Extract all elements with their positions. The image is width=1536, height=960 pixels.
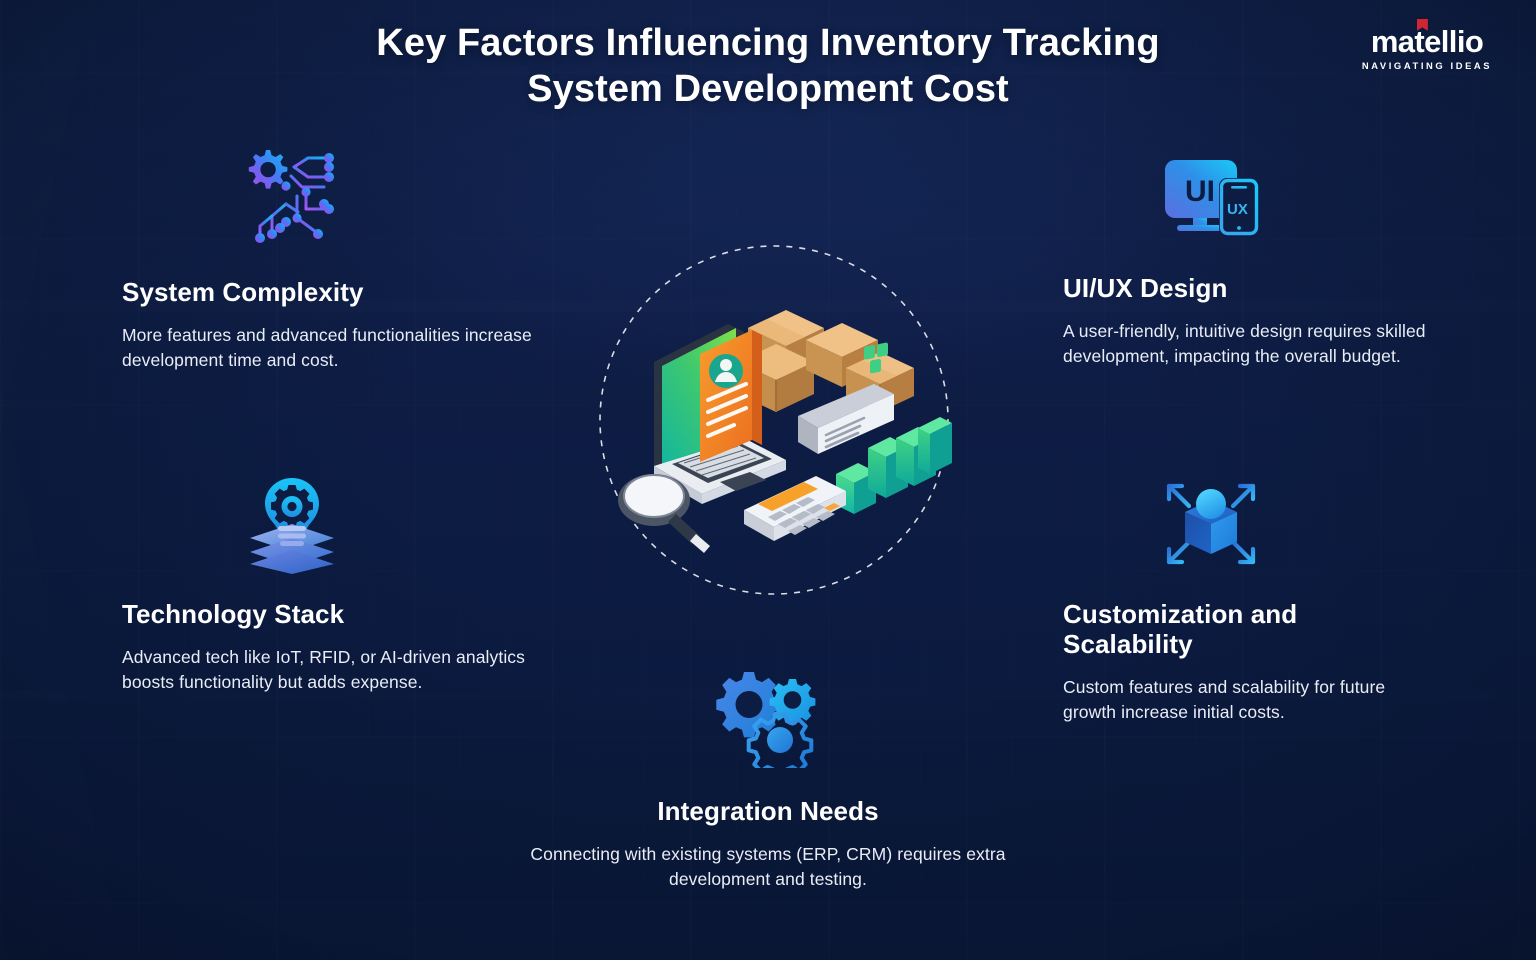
feature-title: System Complexity: [122, 277, 572, 307]
feature-body: A user-friendly, intuitive design requir…: [1063, 319, 1433, 369]
infographic-canvas: Key Factors Influencing Inventory Tracki…: [0, 0, 1536, 960]
feature-system-complexity[interactable]: System Complexity More features and adva…: [122, 146, 572, 373]
feature-integration-needs[interactable]: Integration Needs Connecting with existi…: [518, 668, 1018, 892]
feature-body: Custom features and scalability for futu…: [1063, 675, 1433, 725]
feature-body: Advanced tech like IoT, RFID, or AI-driv…: [122, 645, 572, 695]
feature-title: Customization and Scalability: [1063, 599, 1433, 659]
logo-tagline: NAVIGATING IDEAS: [1352, 61, 1502, 70]
feature-customization-scalability[interactable]: Customization and Scalability Custom fea…: [1063, 480, 1433, 725]
ui-label: UI: [1185, 175, 1215, 208]
monitor-phone-uiux-icon: UI UX: [1163, 156, 1433, 251]
isometric-inventory-tracking-illustration: [596, 242, 952, 598]
feature-title: Integration Needs: [518, 796, 1018, 826]
page-title-line-1: Key Factors Influencing Inventory Tracki…: [376, 22, 1159, 64]
calculator: [744, 476, 846, 541]
feature-title: UI/UX Design: [1063, 273, 1433, 303]
page-title-line-2: System Development Cost: [208, 66, 1328, 112]
feature-title: Technology Stack: [122, 599, 572, 629]
document-card-with-avatar: [700, 330, 762, 462]
feature-technology-stack[interactable]: Technology Stack Advanced tech like IoT,…: [122, 474, 572, 695]
three-gears-icon: [713, 668, 823, 768]
feature-ui-ux-design[interactable]: UI UX UI/UX Design A user-friendly, intu…: [1063, 156, 1433, 369]
circuit-gear-icon: [236, 146, 572, 259]
feature-body: Connecting with existing systems (ERP, C…: [518, 842, 1018, 892]
ux-label: UX: [1227, 201, 1248, 218]
brand-logo[interactable]: matellio NAVIGATING IDEAS: [1352, 26, 1502, 70]
feature-body: More features and advanced functionaliti…: [122, 323, 572, 373]
lightbulb-gear-layers-icon: [244, 474, 572, 579]
cube-scale-arrows-icon: [1163, 480, 1433, 573]
page-title: Key Factors Influencing Inventory Tracki…: [208, 20, 1328, 113]
logo-wordmark: matellio: [1371, 26, 1483, 57]
